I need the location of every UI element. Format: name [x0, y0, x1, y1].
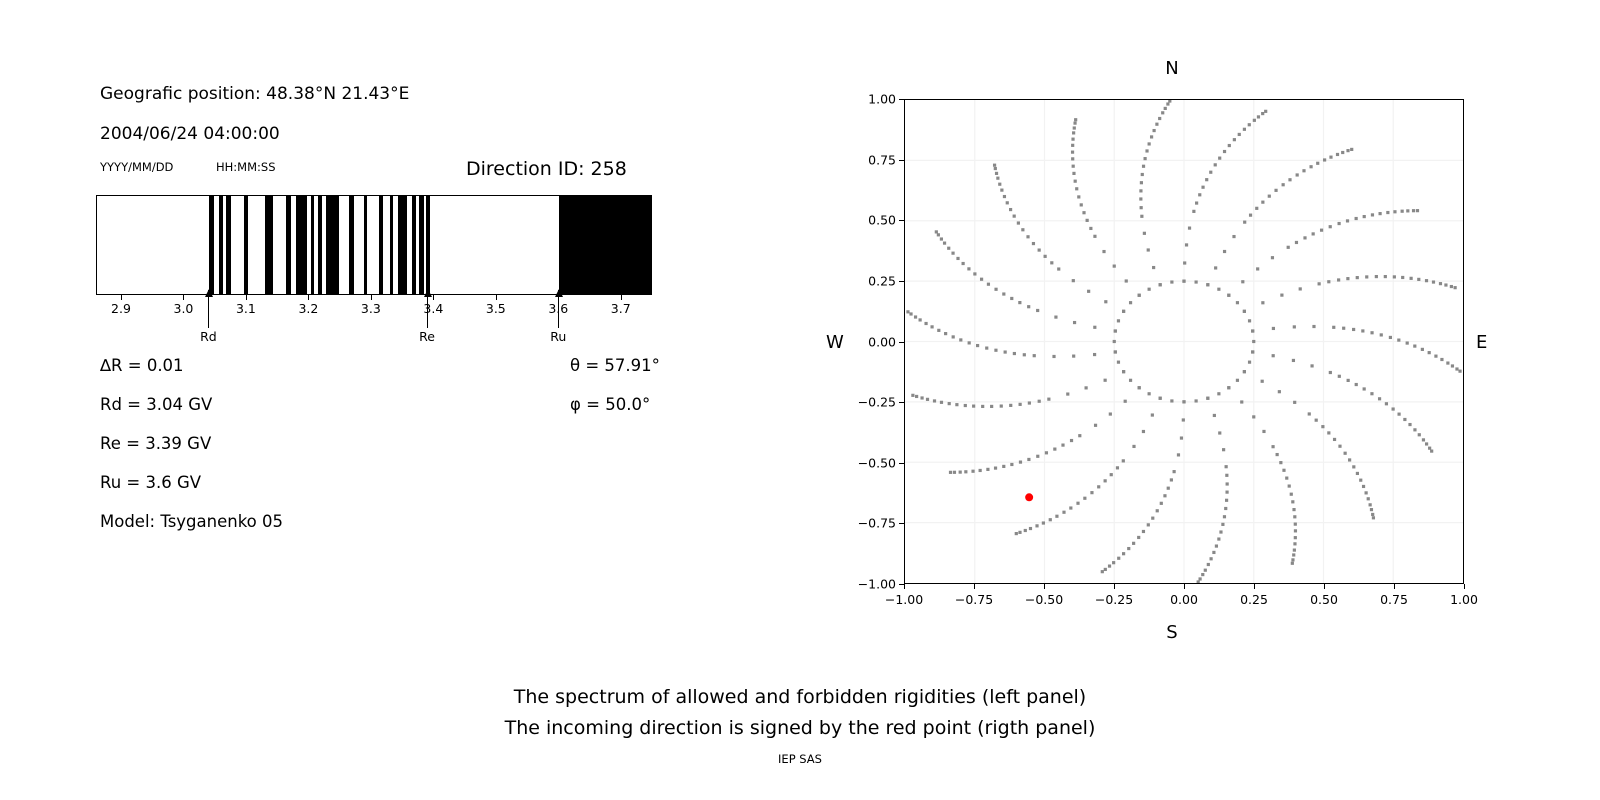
compass-north-label: N [1165, 58, 1178, 79]
direction-point [1138, 294, 1141, 297]
direction-point [1114, 329, 1117, 332]
direction-point [1293, 325, 1296, 328]
direction-point [1428, 351, 1431, 354]
direction-point [1316, 162, 1319, 165]
direction-point [919, 318, 922, 321]
direction-point [1062, 511, 1065, 514]
direction-point [1294, 529, 1297, 532]
direction-point [1072, 279, 1075, 282]
direction-point [1252, 340, 1255, 343]
direction-point [1232, 235, 1235, 238]
direction-point [1268, 195, 1271, 198]
direction-point [1359, 479, 1362, 482]
direction-point [1455, 367, 1458, 370]
direction-point [1403, 418, 1406, 421]
figure-caption: The spectrum of allowed and forbidden ri… [0, 682, 1600, 744]
param-ru: Ru = 3.6 GV [100, 473, 201, 492]
direction-point [1188, 227, 1191, 230]
direction-point [1104, 568, 1107, 571]
direction-point [1071, 138, 1074, 141]
direction-point [1225, 499, 1228, 502]
direction-point [1177, 453, 1180, 456]
direction-point [1182, 418, 1185, 421]
direction-point [1122, 552, 1125, 555]
direction-point [1013, 215, 1016, 218]
direction-point [1006, 201, 1009, 204]
direction-point [937, 329, 940, 332]
direction-point [1155, 123, 1158, 126]
direction-point [1205, 178, 1208, 181]
direction-point [1161, 111, 1164, 114]
direction-point [1153, 129, 1156, 132]
direction-point [1102, 250, 1105, 253]
direction-point [1346, 277, 1349, 280]
x-tick-label: 0.00 [1170, 592, 1198, 607]
direction-point [1093, 353, 1096, 356]
forbidden-band [244, 196, 248, 294]
direction-point [1122, 459, 1125, 462]
direction-point [1080, 203, 1083, 206]
direction-point [1129, 379, 1132, 382]
direction-point [1085, 386, 1088, 389]
direction-point [1356, 472, 1359, 475]
direction-point [1000, 189, 1003, 192]
geographic-position-text: Geografic position: 48.38°N 21.43°E [100, 84, 409, 104]
direction-point [1315, 419, 1318, 422]
direction-point [993, 164, 996, 167]
direction-point [1251, 329, 1254, 332]
forbidden-band [326, 196, 340, 294]
direction-point [1124, 400, 1127, 403]
direction-point [967, 267, 970, 270]
direction-point [1303, 236, 1306, 239]
direction-point [972, 405, 975, 408]
direction-point [1151, 413, 1154, 416]
direction-point [1444, 283, 1447, 286]
direction-point [940, 401, 943, 404]
direction-point [959, 338, 962, 341]
direction-point [930, 325, 933, 328]
direction-point [1073, 122, 1076, 125]
direction-point [924, 322, 927, 325]
direction-point [1142, 430, 1145, 433]
direction-point [1093, 235, 1096, 238]
direction-point [1243, 310, 1246, 313]
direction-point [1293, 542, 1296, 545]
direction-point [1350, 148, 1353, 151]
direction-point [1287, 246, 1290, 249]
direction-point [1000, 404, 1003, 407]
direction-point [1027, 458, 1030, 461]
direction-point [1004, 350, 1007, 353]
direction-point [1261, 201, 1264, 204]
direction-point [1434, 355, 1437, 358]
marker-label-ru: Ru [550, 329, 566, 344]
x-tick [904, 584, 905, 589]
y-tick [899, 463, 904, 464]
direction-point [1451, 364, 1454, 367]
direction-point [1361, 329, 1364, 332]
x-tick-label: 3.1 [236, 301, 256, 316]
x-tick-label: 0.75 [1380, 592, 1408, 607]
direction-point [1397, 338, 1400, 341]
direction-point [1197, 580, 1200, 583]
direction-point [1114, 350, 1117, 353]
direction-point [1075, 187, 1078, 190]
direction-point [1142, 530, 1145, 533]
forbidden-band [364, 196, 368, 294]
direction-point [1086, 219, 1089, 222]
direction-point [1210, 557, 1213, 560]
direction-point [1248, 361, 1251, 364]
x-tick-label: −0.75 [955, 592, 993, 607]
direction-point [1047, 398, 1050, 401]
direction-point [987, 283, 990, 286]
direction-point [1261, 301, 1264, 304]
direction-point [1140, 181, 1143, 184]
direction-point [1233, 138, 1236, 141]
y-tick-label: 0.50 [868, 213, 896, 228]
direction-point [1299, 287, 1302, 290]
direction-point [1285, 477, 1288, 480]
direction-point [1378, 212, 1381, 215]
direction-point [1302, 169, 1305, 172]
direction-point [1054, 316, 1057, 319]
direction-point [1002, 292, 1005, 295]
y-tick-label: 1.00 [868, 92, 896, 107]
direction-point [1073, 321, 1076, 324]
direction-point [1226, 482, 1229, 485]
direction-point [1009, 404, 1012, 407]
direction-point [1073, 126, 1076, 129]
x-tick [496, 295, 497, 300]
direction-point [1158, 117, 1161, 120]
direction-point [1159, 283, 1162, 286]
direction-point [1294, 523, 1297, 526]
direction-point [1201, 186, 1204, 189]
direction-point [1195, 399, 1198, 402]
x-tick-label: 1.00 [1450, 592, 1478, 607]
x-tick [308, 295, 309, 300]
direction-point [1017, 221, 1020, 224]
direction-point [947, 247, 950, 250]
direction-point [1053, 447, 1056, 450]
x-tick-label: 2.9 [111, 301, 131, 316]
direction-point [976, 344, 979, 347]
datetime-text: 2004/06/24 04:00:00 [100, 124, 280, 144]
direction-point [1145, 149, 1148, 152]
direction-point [1141, 173, 1144, 176]
direction-point [1248, 319, 1251, 322]
direction-point [1393, 210, 1396, 213]
direction-point [1256, 267, 1259, 270]
y-tick-label: 0.25 [868, 273, 896, 288]
direction-point [1132, 445, 1135, 448]
x-tick [433, 295, 434, 300]
direction-point [1072, 131, 1075, 134]
forbidden-band [286, 196, 291, 294]
rigidity-spectrum-bar [96, 195, 652, 295]
direction-point [1029, 527, 1032, 530]
direction-point [968, 341, 971, 344]
direction-point [1352, 328, 1355, 331]
direction-point [1425, 442, 1428, 445]
direction-point [1348, 458, 1351, 461]
direction-point [1272, 354, 1275, 357]
direction-map-plot-area [904, 99, 1464, 584]
direction-point [1214, 163, 1217, 166]
direction-point [1094, 424, 1097, 427]
y-tick [899, 220, 904, 221]
direction-point [1401, 276, 1404, 279]
y-tick [899, 281, 904, 282]
direction-point [1425, 279, 1428, 282]
direction-point [1370, 508, 1373, 511]
direction-point [1224, 507, 1227, 510]
direction-point [1380, 333, 1383, 336]
marker-arrow-rd [208, 290, 209, 328]
direction-point [1072, 165, 1075, 168]
direction-point [1003, 195, 1006, 198]
direction-point [955, 403, 958, 406]
x-tick-label: −0.50 [1025, 592, 1063, 607]
direction-point [1215, 544, 1218, 547]
direction-point [1077, 195, 1080, 198]
direction-point [962, 262, 965, 265]
direction-point [1125, 279, 1128, 282]
direction-point [1329, 156, 1332, 159]
param-delta-r: ∆R = 0.01 [100, 356, 184, 375]
direction-point [1024, 529, 1027, 532]
direction-point [1112, 561, 1115, 564]
direction-point [1078, 434, 1081, 437]
direction-point [1206, 397, 1209, 400]
y-tick [899, 99, 904, 100]
spectrum-bar-wrap [96, 195, 652, 295]
direction-point [971, 470, 974, 473]
x-tick-label: −1.00 [885, 592, 923, 607]
direction-point [995, 172, 998, 175]
direction-point [1093, 326, 1096, 329]
direction-point [1109, 412, 1112, 415]
x-tick-label: 0.25 [1240, 592, 1268, 607]
direction-point [1015, 532, 1018, 535]
direction-point [1036, 455, 1039, 458]
direction-point [1312, 325, 1315, 328]
direction-point [1045, 451, 1048, 454]
direction-point [953, 471, 956, 474]
direction-point [1371, 513, 1374, 516]
x-tick [974, 584, 975, 589]
direction-point [1151, 517, 1154, 520]
direction-point [1218, 157, 1221, 160]
direction-point [1033, 354, 1036, 357]
direction-point [1282, 183, 1285, 186]
direction-point [1018, 301, 1021, 304]
direction-point [1332, 326, 1335, 329]
direction-point [1365, 275, 1368, 278]
x-tick-label: 3.2 [298, 301, 318, 316]
direction-point [1253, 119, 1256, 122]
x-tick [1254, 584, 1255, 589]
direction-point [1309, 165, 1312, 168]
direction-point [1362, 485, 1365, 488]
direction-point [1321, 425, 1324, 428]
direction-point [1291, 500, 1294, 503]
marker-label-rd: Rd [200, 329, 217, 344]
direction-point [1410, 277, 1413, 280]
direction-point [1148, 288, 1151, 291]
direction-point [1038, 248, 1041, 251]
caption-line-2: The incoming direction is signed by the … [0, 713, 1600, 744]
direction-point [1248, 123, 1251, 126]
direction-point [1070, 439, 1073, 442]
direction-point [1013, 352, 1016, 355]
direction-point [981, 405, 984, 408]
direction-point [956, 257, 959, 260]
direction-point [1280, 294, 1283, 297]
param-model: Model: Tsyganenko 05 [100, 512, 283, 531]
compass-west-label: W [826, 332, 844, 353]
direction-point [1122, 370, 1125, 373]
direction-point [994, 167, 997, 170]
direction-point [1406, 209, 1409, 212]
direction-point [1089, 227, 1092, 230]
direction-point [1142, 165, 1145, 168]
direction-point [1338, 375, 1341, 378]
direction-point [1238, 133, 1241, 136]
direction-point [951, 252, 954, 255]
param-rd: Rd = 3.04 GV [100, 395, 212, 414]
direction-point [1251, 350, 1254, 353]
direction-point [1397, 413, 1400, 416]
direction-point [1293, 401, 1296, 404]
direction-point [1291, 558, 1294, 561]
direction-point [1417, 278, 1420, 281]
forbidden-band [559, 196, 652, 294]
direction-point [1071, 144, 1074, 147]
forbidden-band [412, 196, 416, 294]
direction-point [1072, 172, 1075, 175]
direction-point [1217, 288, 1220, 291]
direction-point [1122, 310, 1125, 313]
direction-point [1138, 386, 1141, 389]
direction-point [1152, 266, 1155, 269]
direction-point [1097, 485, 1100, 488]
x-tick-label: 3.7 [611, 301, 631, 316]
direction-point [1346, 149, 1349, 152]
x-tick [246, 295, 247, 300]
direction-point [1329, 225, 1332, 228]
spectrum-x-axis: 2.93.03.13.23.33.43.53.63.7RdReRu [96, 295, 652, 355]
direction-point [1147, 523, 1150, 526]
time-format-hint: HH:MM:SS [216, 160, 276, 174]
direction-point [915, 395, 918, 398]
direction-point [1227, 294, 1230, 297]
forbidden-band [296, 196, 307, 294]
direction-point [1236, 379, 1239, 382]
direction-point [1440, 358, 1443, 361]
direction-point [1195, 201, 1198, 204]
y-tick-label: −0.25 [858, 395, 896, 410]
direction-point [1271, 445, 1274, 448]
direction-point [1159, 397, 1162, 400]
direction-point [1421, 348, 1424, 351]
forbidden-band [379, 196, 383, 294]
direction-point [1002, 465, 1005, 468]
direction-point [909, 312, 912, 315]
direction-point [949, 471, 952, 474]
direction-point [1180, 436, 1183, 439]
direction-point [1428, 447, 1431, 450]
forbidden-band [398, 196, 407, 294]
direction-point [935, 230, 938, 233]
direction-point [1338, 445, 1341, 448]
direction-point [1026, 235, 1029, 238]
direction-point [1413, 344, 1416, 347]
direction-point [1028, 401, 1031, 404]
x-tick [621, 295, 622, 300]
direction-point [1384, 275, 1387, 278]
direction-point [1170, 280, 1173, 283]
direction-point [1140, 206, 1143, 209]
forbidden-band [318, 196, 322, 294]
direction-point [1201, 573, 1204, 576]
direction-point [1219, 530, 1222, 533]
direction-point [1412, 209, 1415, 212]
direction-point [1127, 547, 1130, 550]
incoming-direction-point [1025, 493, 1033, 501]
direction-point [986, 468, 989, 471]
direction-point [1023, 353, 1026, 356]
direction-point [1272, 327, 1275, 330]
direction-point [964, 470, 967, 473]
direction-point [1139, 197, 1142, 200]
direction-point [944, 332, 947, 335]
x-tick [1044, 584, 1045, 589]
direction-point [1291, 562, 1294, 565]
param-re: Re = 3.39 GV [100, 434, 211, 453]
direction-point [914, 315, 917, 318]
direction-point [1168, 100, 1171, 103]
direction-point [1071, 151, 1074, 154]
direction-point [1392, 407, 1395, 410]
direction-point [1365, 491, 1368, 494]
direction-point [1336, 153, 1339, 156]
direction-point [1195, 280, 1198, 283]
direction-point [1257, 115, 1260, 118]
direction-point [1173, 470, 1176, 473]
direction-point [1160, 502, 1163, 505]
direction-point [1204, 569, 1207, 572]
direction-point [1049, 518, 1052, 521]
direction-point [1386, 211, 1389, 214]
footer-text: IEP SAS [0, 752, 1600, 766]
marker-arrow-ru [558, 290, 559, 328]
forbidden-band [226, 196, 231, 294]
forbidden-band [209, 196, 214, 294]
direction-point [1148, 142, 1151, 145]
direction-point [926, 398, 929, 401]
direction-point [1223, 150, 1226, 153]
marker-arrow-re [427, 290, 428, 328]
x-tick [1324, 584, 1325, 589]
direction-point [1104, 300, 1107, 303]
direction-point [1035, 524, 1038, 527]
direction-point [1292, 553, 1295, 556]
forbidden-band [390, 196, 393, 294]
direction-map-panel [800, 0, 1600, 660]
